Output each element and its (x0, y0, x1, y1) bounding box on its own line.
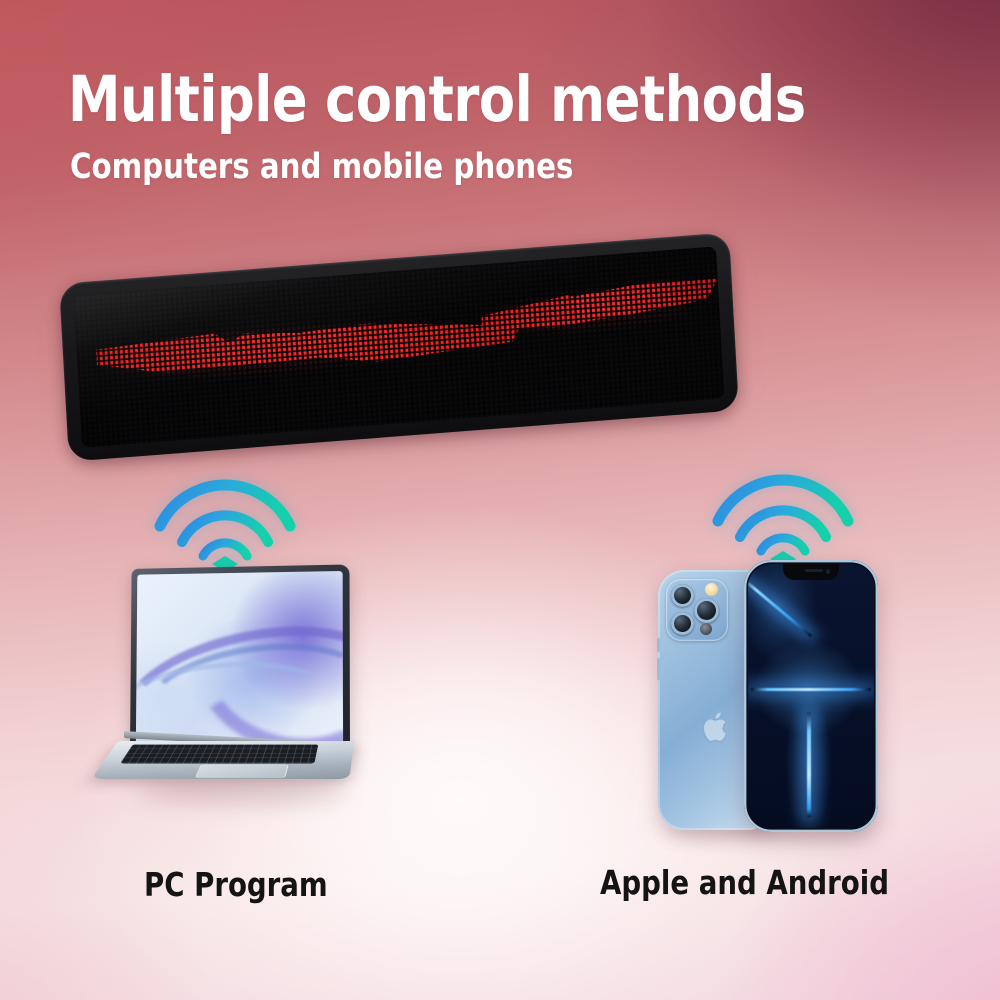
promo-banner: Multiple control methods Computers and m… (0, 0, 1000, 1000)
led-eyes-graphic (74, 246, 725, 447)
camera-lens (671, 584, 694, 607)
wallpaper-light-beam (751, 688, 872, 691)
wifi-icon (708, 455, 858, 567)
lidar-sensor (700, 623, 712, 635)
phone-notch (783, 564, 839, 580)
laptop-trackpad (195, 764, 288, 777)
laptop-wallpaper (136, 571, 343, 755)
led-sign-body (59, 232, 739, 461)
phone-volume-button (657, 658, 660, 680)
phone-front-view (744, 560, 878, 832)
phone-speaker (805, 569, 823, 572)
phone-volume-button (657, 638, 660, 652)
smartphone-icon (648, 558, 900, 848)
camera-lens (694, 598, 719, 623)
phone-camera-module (666, 579, 728, 641)
wallpaper-light-beam (807, 712, 810, 818)
apple-logo-icon (702, 710, 731, 744)
phone-screen (748, 564, 874, 828)
phone-wallpaper (748, 564, 874, 828)
camera-lens (671, 612, 694, 635)
page-title: Multiple control methods (68, 68, 806, 131)
laptop-shadow (136, 777, 346, 803)
caption-pc-program: PC Program (144, 868, 328, 901)
page-subtitle: Computers and mobile phones (70, 150, 573, 185)
laptop-lid (130, 564, 350, 761)
laptop-base (91, 741, 354, 779)
phone-power-button (877, 640, 879, 670)
wifi-icon (150, 460, 300, 572)
wallpaper-glow (748, 564, 874, 828)
laptop-screen (136, 571, 343, 755)
caption-apple-android: Apple and Android (600, 866, 889, 899)
camera-flash (705, 583, 718, 596)
led-sign-screen (74, 246, 725, 447)
laptop-keyboard (119, 744, 317, 763)
led-sign (55, 248, 745, 458)
laptop-icon (112, 565, 362, 830)
phone-front-camera (826, 569, 831, 574)
